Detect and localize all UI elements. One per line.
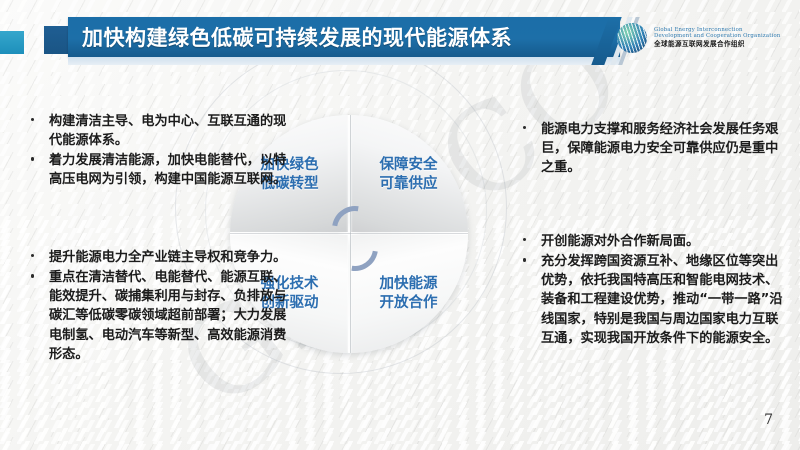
header-accent-chip-light <box>0 31 24 54</box>
left-column-bottom-group: 提升能源电力全产业链主导权和竞争力。 重点在清洁替代、电能替代、能源互联、能效提… <box>26 248 298 365</box>
left-column-top-group: 构建清洁主导、电为中心、互联互通的现代能源体系。 着力发展清洁能源，加快电能替代… <box>26 112 298 191</box>
list-item-text: 提升能源电力全产业链主导权和竞争力。 <box>49 250 286 265</box>
double-arc-icon <box>328 211 372 259</box>
organization-logo: Global Energy Interconnection Developmen… <box>617 19 797 57</box>
quadrant-top-right-line1: 保障安全 <box>380 156 438 175</box>
bullet-dot-icon <box>523 258 526 261</box>
bullet-dot-icon <box>31 254 34 257</box>
bullet-dot-icon <box>523 238 526 241</box>
list-item: 重点在清洁替代、电能替代、能源互联、能效提升、碳捕集利用与封存、负排放与碳汇等低… <box>26 268 298 364</box>
list-item-text: 构建清洁主导、电为中心、互联互通的现代能源体系。 <box>49 114 286 148</box>
bullet-list: 开创能源对外合作新局面。 充分发挥跨国资源互补、地缘区位等突出优势，依托我国特高… <box>518 232 790 348</box>
bullet-dot-icon <box>31 274 34 277</box>
globe-stripes <box>617 23 647 53</box>
logo-english-line-2: Development and Cooperation Organization <box>654 34 780 40</box>
quadrant-bottom-right-line2: 开放合作 <box>380 294 438 313</box>
bullet-dot-icon <box>31 157 34 160</box>
quadrant-bottom-right-line1: 加快能源 <box>380 275 438 294</box>
bullet-list: 能源电力支撑和服务经济社会发展任务艰巨，保障能源电力安全可靠供应仍是重中之重。 <box>518 120 790 177</box>
list-item: 构建清洁主导、电为中心、互联互通的现代能源体系。 <box>26 112 298 150</box>
list-item-text: 充分发挥跨国资源互补、地缘区位等突出优势，依托我国特高压和智能电网技术、装备和工… <box>541 254 783 346</box>
list-item: 充分发挥跨国资源互补、地缘区位等突出优势，依托我国特高压和智能电网技术、装备和工… <box>518 252 790 348</box>
list-item: 着力发展清洁能源，加快电能替代，以特高压电网为引领，构建中国能源互联网。 <box>26 151 298 189</box>
list-item-text: 能源电力支撑和服务经济社会发展任务艰巨，保障能源电力安全可靠供应仍是重中之重。 <box>541 122 778 175</box>
page-title: 加快构建绿色低碳可持续发展的现代能源体系 <box>82 18 512 56</box>
bullet-list: 提升能源电力全产业链主导权和竞争力。 重点在清洁替代、电能替代、能源互联、能效提… <box>26 248 298 364</box>
list-item: 开创能源对外合作新局面。 <box>518 232 790 251</box>
right-column-bottom-group: 开创能源对外合作新局面。 充分发挥跨国资源互补、地缘区位等突出优势，依托我国特高… <box>518 232 790 349</box>
bullet-dot-icon <box>523 126 526 129</box>
logo-chinese-name: 全球能源互联网发展合作组织 <box>654 41 780 48</box>
header-bar-underline <box>68 57 620 65</box>
list-item-text: 开创能源对外合作新局面。 <box>541 234 699 249</box>
logo-text-block: Global Energy Interconnection Developmen… <box>654 28 780 49</box>
right-column-top-group: 能源电力支撑和服务经济社会发展任务艰巨，保障能源电力安全可靠供应仍是重中之重。 <box>518 120 790 178</box>
quadrant-top-right-line2: 可靠供应 <box>380 175 438 194</box>
list-item-text: 着力发展清洁能源，加快电能替代，以特高压电网为引领，构建中国能源互联网。 <box>49 153 286 187</box>
list-item: 能源电力支撑和服务经济社会发展任务艰巨，保障能源电力安全可靠供应仍是重中之重。 <box>518 120 790 177</box>
page-number: 7 <box>764 412 773 428</box>
bullet-list: 构建清洁主导、电为中心、互联互通的现代能源体系。 着力发展清洁能源，加快电能替代… <box>26 112 298 190</box>
list-item: 提升能源电力全产业链主导权和竞争力。 <box>26 248 298 267</box>
striped-globe-icon <box>617 23 647 53</box>
slide-canvas: GEIDCO 加快构建绿色低碳可持续发展的现代能源体系 Global Energ… <box>0 0 800 450</box>
list-item-text: 重点在清洁替代、电能替代、能源互联、能效提升、碳捕集利用与封存、负排放与碳汇等低… <box>49 270 286 362</box>
bullet-dot-icon <box>31 118 34 121</box>
